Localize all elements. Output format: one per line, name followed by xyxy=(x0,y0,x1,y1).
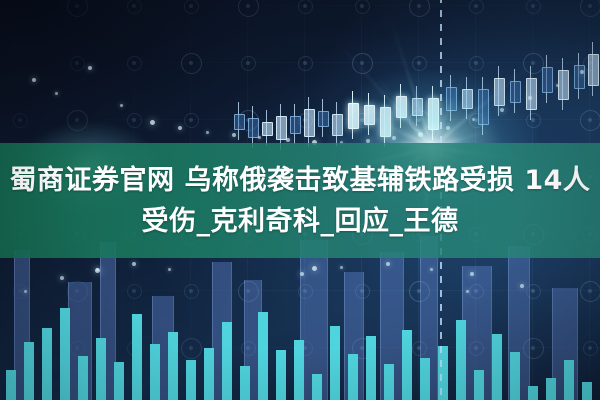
sparkle-dot xyxy=(168,268,171,271)
candle-body xyxy=(304,109,315,137)
sparkle-dot xyxy=(60,276,64,280)
candlestick xyxy=(248,106,257,148)
sparkle-dot xyxy=(232,133,236,137)
volume-bar xyxy=(204,348,214,400)
headline-text: 蜀商证券官网 乌称俄袭击致基辅铁路受损 14人受伤_克利奇科_回应_王德 xyxy=(0,143,600,258)
news-thumbnail-image: 蜀商证券官网 乌称俄袭击致基辅铁路受损 14人受伤_克利奇科_回应_王德 xyxy=(0,0,600,400)
sparkle-dot xyxy=(178,126,182,130)
sparkle-dot xyxy=(340,266,343,269)
volume-bar xyxy=(348,354,358,400)
volume-bar xyxy=(330,326,340,400)
candle-body xyxy=(262,122,273,136)
sparkle-dot xyxy=(206,131,209,134)
sparkle-dot xyxy=(520,284,524,288)
volume-bar xyxy=(546,378,556,400)
volume-bar xyxy=(366,336,376,400)
volume-bar xyxy=(240,366,250,400)
candlestick xyxy=(318,99,327,137)
sparkle-dot xyxy=(312,266,317,271)
sparkle-dot xyxy=(88,66,92,70)
sparkle-dot xyxy=(120,104,123,107)
volume-bar xyxy=(78,356,88,400)
sparkle-dot xyxy=(300,272,304,276)
sparkle-dot xyxy=(55,92,58,95)
sparkle-dot xyxy=(286,138,290,142)
sparkle-dot xyxy=(470,272,474,276)
candle-body xyxy=(248,118,259,138)
volume-bar xyxy=(510,352,520,400)
sparkle-dot xyxy=(556,84,559,87)
volume-bar xyxy=(492,334,502,400)
candle-body xyxy=(290,116,301,134)
sparkle-dot xyxy=(24,290,27,293)
volume-bar xyxy=(384,364,394,400)
volume-bar xyxy=(420,358,430,400)
volume-bar xyxy=(114,362,124,400)
volume-bar xyxy=(294,340,304,400)
volume-bar xyxy=(312,374,322,400)
volume-bar xyxy=(132,314,142,400)
sparkle-dot xyxy=(95,268,100,273)
volume-bar xyxy=(168,332,178,400)
volume-bar xyxy=(6,370,16,400)
volume-bar xyxy=(258,312,268,400)
sparkle-dot xyxy=(580,70,584,74)
volume-bar xyxy=(150,344,160,400)
sparkle-dot xyxy=(430,268,433,271)
volume-bar xyxy=(60,308,70,400)
sparkle-dot xyxy=(132,262,136,266)
candle-body xyxy=(542,67,553,93)
sparkle-dot xyxy=(386,262,390,266)
candlestick xyxy=(574,53,583,99)
sparkle-dot xyxy=(258,136,261,139)
candlestick xyxy=(290,104,299,144)
candle-body xyxy=(276,116,287,140)
candlestick xyxy=(588,42,597,96)
volume-bar xyxy=(276,350,286,400)
volume-bar xyxy=(24,342,34,400)
candle-body xyxy=(558,70,569,100)
candle-body xyxy=(574,65,585,89)
volume-bar xyxy=(186,360,196,400)
candlestick xyxy=(558,58,567,110)
candle-body xyxy=(588,54,599,86)
volume-bar xyxy=(42,328,52,400)
volume-bar xyxy=(582,382,592,400)
sparkle-dot xyxy=(32,78,36,82)
volume-bar xyxy=(528,386,538,400)
volume-bar xyxy=(96,338,106,400)
volume-bar xyxy=(222,322,232,400)
candlestick xyxy=(304,97,313,147)
candle-body xyxy=(234,114,245,130)
volume-bar xyxy=(402,330,412,400)
volume-bar xyxy=(564,360,574,400)
volume-bar xyxy=(474,370,484,400)
sparkle-dot xyxy=(466,290,469,293)
candlestick xyxy=(262,110,271,146)
volume-bar xyxy=(456,320,466,400)
candlestick xyxy=(542,55,551,103)
